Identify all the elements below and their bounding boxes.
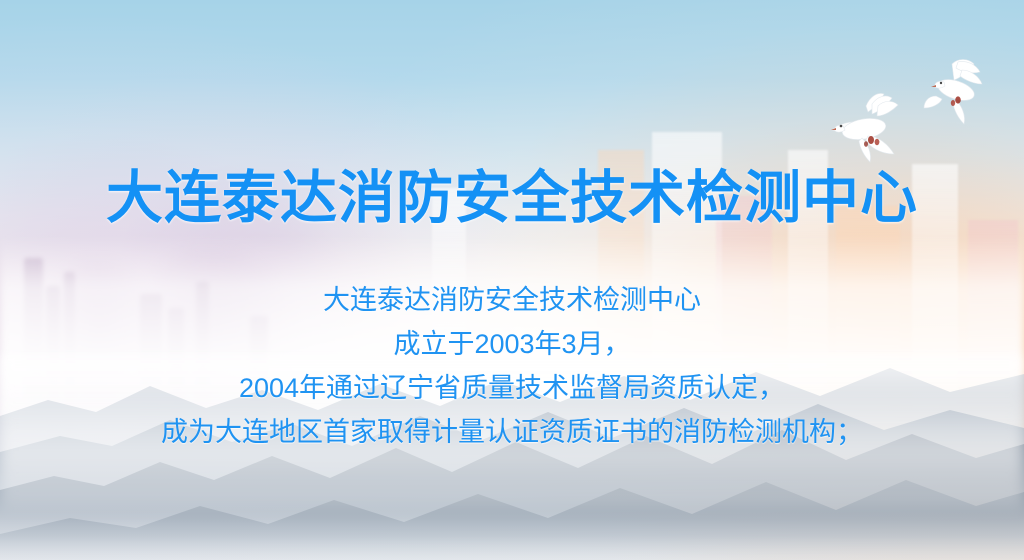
slide-canvas: 大连泰达消防安全技术检测中心 大连泰达消防安全技术检测中心 成立于2003年3月…: [0, 0, 1024, 560]
body-line: 成立于2003年3月，: [0, 322, 1024, 366]
slide-content: 大连泰达消防安全技术检测中心 大连泰达消防安全技术检测中心 成立于2003年3月…: [0, 0, 1024, 560]
page-title: 大连泰达消防安全技术检测中心: [0, 168, 1024, 230]
body-line: 2004年通过辽宁省质量技术监督局资质认定，: [0, 366, 1024, 410]
slide-body: 大连泰达消防安全技术检测中心 成立于2003年3月， 2004年通过辽宁省质量技…: [0, 278, 1024, 454]
body-line: 大连泰达消防安全技术检测中心: [0, 278, 1024, 322]
body-line: 成为大连地区首家取得计量认证资质证书的消防检测机构；: [0, 410, 1024, 454]
